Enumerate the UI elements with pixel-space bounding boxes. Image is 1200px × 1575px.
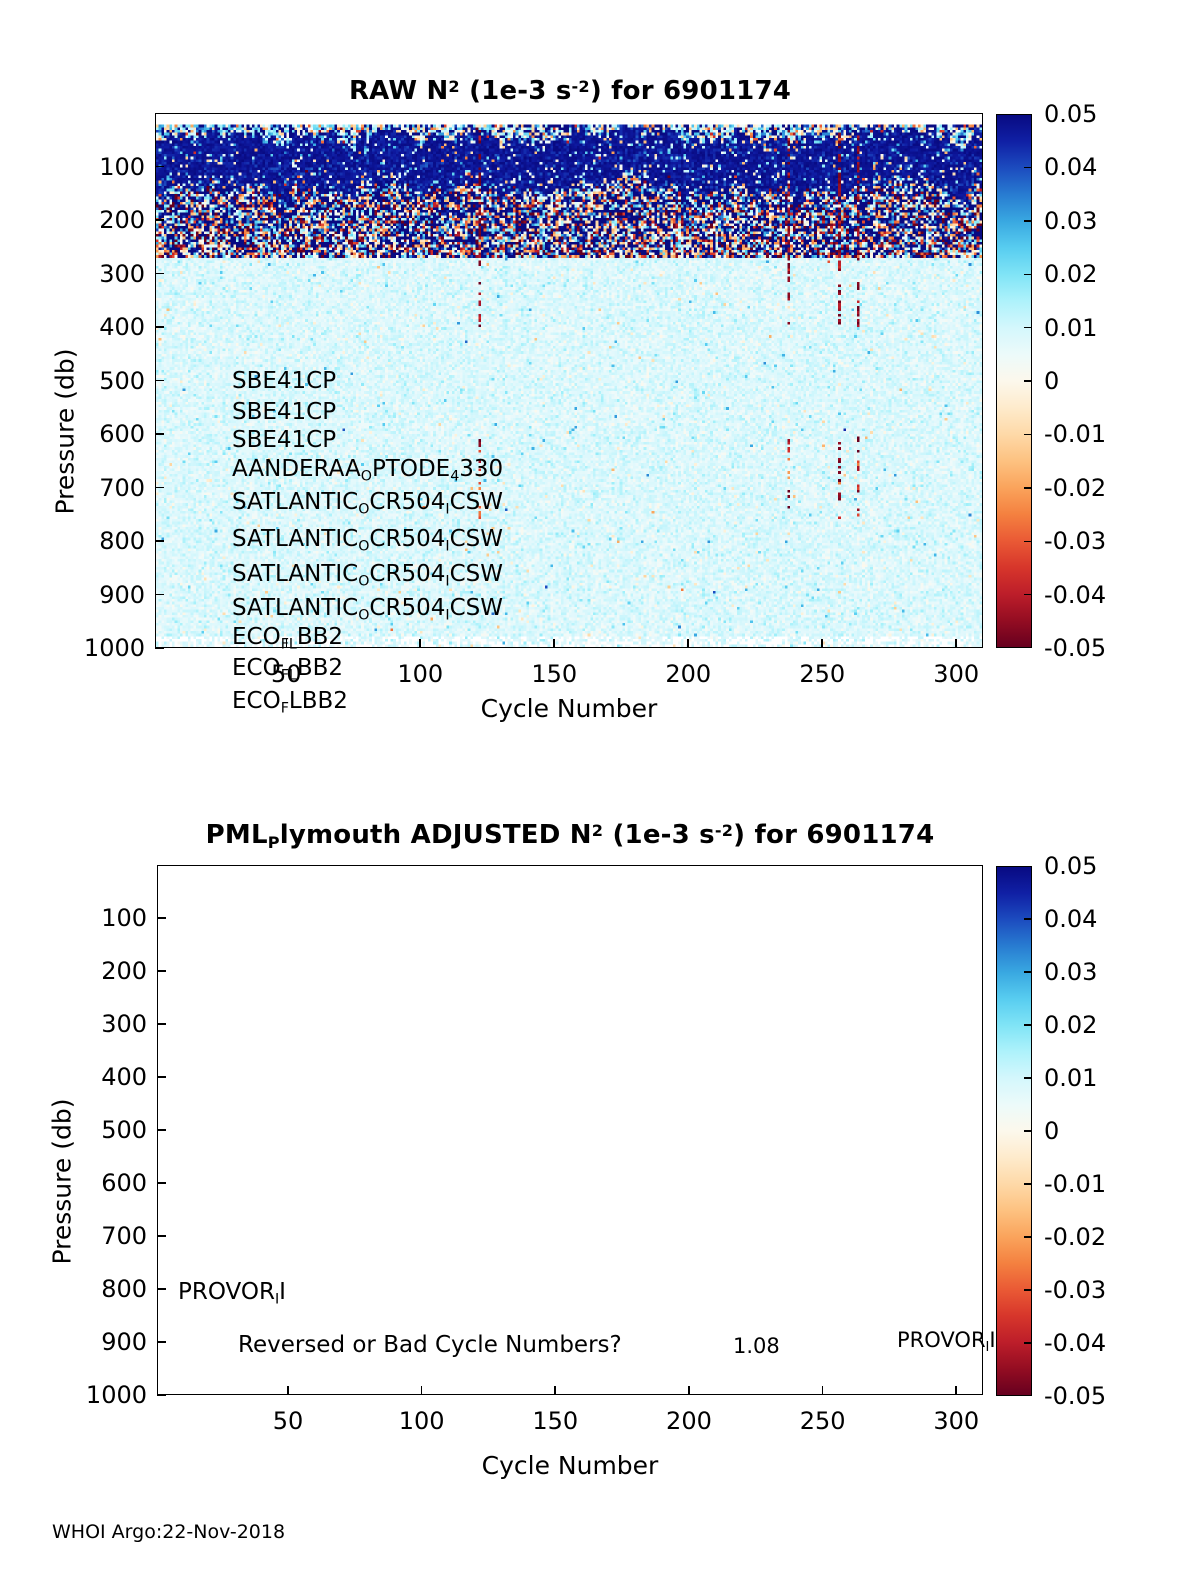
- xtick-label: 100: [375, 660, 465, 688]
- annot-tail: PTODE: [372, 456, 450, 482]
- annot-tail2: 330: [459, 456, 503, 482]
- colorbar-tick-label: 0.05: [1044, 100, 1097, 128]
- colorbar-tick-label: -0.04: [1044, 1329, 1106, 1357]
- colorbar-tick-mark: [1024, 1183, 1032, 1185]
- ytick-label: 900: [50, 581, 145, 609]
- colorbar-tick-mark: [1024, 274, 1032, 276]
- ytick-label: 100: [50, 153, 145, 181]
- adjusted-annotation: PROVORII: [897, 1330, 996, 1354]
- raw-plot-title: RAW N2 (1e-3 s-2) for 6901174: [155, 76, 985, 106]
- sensor-annotation: SATLANTICOCR504ICSW: [232, 597, 503, 623]
- ytick-label: 100: [52, 904, 147, 932]
- annot-tail2: CSW: [450, 489, 503, 515]
- annot-sub: O: [361, 469, 372, 485]
- ytick-mark: [157, 1182, 166, 1184]
- annot-text: PROVOR: [897, 1328, 986, 1352]
- colorbar-tick-mark: [1024, 971, 1032, 973]
- xtick-label: 250: [777, 660, 867, 688]
- adj-title-prefix: PML: [206, 820, 268, 850]
- ytick-mark: [157, 1394, 166, 1396]
- ytick-mark: [157, 1288, 166, 1290]
- adjusted-axes[interactable]: [157, 865, 983, 1395]
- sensor-annotation: SATLANTICOCR504ICSW: [232, 528, 503, 554]
- xtick-mark: [955, 1386, 957, 1395]
- panel-raw: RAW N2 (1e-3 s-2) for 6901174 Pressure (…: [0, 0, 1200, 790]
- colorbar-tick-label: 0.03: [1044, 207, 1097, 235]
- adj-title-sub: P: [268, 833, 280, 852]
- colorbar-tick-label: 0.04: [1044, 905, 1097, 933]
- ytick-label: 1000: [50, 634, 145, 662]
- colorbar-tick-mark: [1024, 434, 1032, 436]
- annot-tail: BB2: [297, 624, 343, 650]
- annot-text: SATLANTIC: [232, 595, 358, 621]
- annot-tail: I: [279, 1279, 286, 1305]
- panel-adjusted: PMLPlymouth ADJUSTED N2 (1e-3 s-2) for 6…: [0, 790, 1200, 1550]
- ytick-label: 700: [52, 1222, 147, 1250]
- ytick-label: 400: [52, 1063, 147, 1091]
- ytick-label: 500: [50, 367, 145, 395]
- xtick-label: 250: [778, 1407, 868, 1435]
- annot-tail: LBB2: [289, 688, 348, 714]
- xtick-label: 200: [644, 1407, 734, 1435]
- colorbar-tick-label: -0.03: [1044, 1276, 1106, 1304]
- colorbar-tick-label: 0: [1044, 1117, 1059, 1145]
- ytick-label: 1000: [52, 1381, 147, 1409]
- sensor-annotation: SBE41CP: [232, 370, 336, 393]
- colorbar-tick-mark: [1024, 1024, 1032, 1026]
- raw-title-mid: (1e-3 s: [460, 76, 572, 106]
- colorbar-tick-label: -0.03: [1044, 527, 1106, 555]
- xtick-label: 150: [509, 660, 599, 688]
- annot-sub: O: [358, 608, 369, 624]
- colorbar-tick-label: -0.02: [1044, 1223, 1106, 1251]
- ytick-mark: [155, 326, 164, 328]
- raw-title-sup2: -2: [572, 77, 590, 96]
- sensor-annotation: ECOFLBB2: [232, 626, 343, 652]
- sensor-annotation: AANDERAAOPTODE4330: [232, 458, 503, 484]
- ytick-label: 200: [52, 957, 147, 985]
- colorbar-tick-label: 0.04: [1044, 153, 1097, 181]
- annot-text: AANDERAA: [232, 456, 361, 482]
- annot-sub2: 4: [450, 469, 459, 485]
- annot-text: ECO: [232, 688, 281, 714]
- ytick-mark: [155, 380, 164, 382]
- annot-tail: I: [989, 1328, 995, 1352]
- ytick-mark: [157, 1129, 166, 1131]
- xtick-mark: [821, 639, 823, 648]
- colorbar-tick-mark: [1024, 1289, 1032, 1291]
- ytick-label: 400: [50, 313, 145, 341]
- colorbar-tick-mark: [1024, 1077, 1032, 1079]
- raw-title-suffix: ) for 6901174: [590, 76, 791, 106]
- ytick-mark: [157, 1076, 166, 1078]
- figure-footer: WHOI Argo:22-Nov-2018: [52, 1521, 285, 1543]
- colorbar-tick-label: 0.01: [1044, 314, 1097, 342]
- annot-tail: CR504: [369, 561, 445, 587]
- xtick-mark: [553, 639, 555, 648]
- adjusted-xlabel: Cycle Number: [157, 1451, 983, 1480]
- ytick-mark: [155, 219, 164, 221]
- colorbar-tick-label: -0.04: [1044, 581, 1106, 609]
- annot-text: SBE41CP: [232, 427, 336, 453]
- colorbar-tick-mark: [1024, 167, 1032, 169]
- xtick-mark: [421, 1386, 423, 1395]
- ytick-mark: [155, 487, 164, 489]
- xtick-label: 50: [243, 1407, 333, 1435]
- annot-text: PROVOR: [178, 1279, 275, 1305]
- annot-text: 1.08: [733, 1334, 780, 1358]
- ytick-label: 300: [50, 260, 145, 288]
- ytick-mark: [155, 540, 164, 542]
- sensor-annotation: SATLANTICOCR504ICSW: [232, 563, 503, 589]
- annot-tail2: CSW: [450, 526, 503, 552]
- annot-sub: O: [358, 502, 369, 518]
- sensor-annotation: ECOFLBB2: [232, 690, 348, 716]
- colorbar-tick-mark: [1024, 327, 1032, 329]
- annot-sub: O: [358, 574, 369, 590]
- annot-sub: O: [358, 539, 369, 555]
- colorbar-tick-mark: [1024, 1236, 1032, 1238]
- adjusted-plot-title: PMLPlymouth ADJUSTED N2 (1e-3 s-2) for 6…: [155, 820, 985, 852]
- adjusted-annotation: 1.08: [733, 1336, 780, 1357]
- annot-sub: FL: [281, 637, 297, 653]
- colorbar-tick-label: -0.05: [1044, 634, 1106, 662]
- ytick-label: 200: [50, 206, 145, 234]
- colorbar-tick-label: -0.02: [1044, 474, 1106, 502]
- annot-tail2: CSW: [450, 561, 503, 587]
- annot-tail: CR504: [369, 526, 445, 552]
- xtick-mark: [419, 639, 421, 648]
- colorbar-tick-mark: [1024, 1342, 1032, 1344]
- annot-text: SATLANTIC: [232, 561, 358, 587]
- ytick-mark: [157, 970, 166, 972]
- colorbar-tick-label: 0: [1044, 367, 1059, 395]
- xtick-mark: [688, 1386, 690, 1395]
- raw-title-prefix: RAW N: [349, 76, 448, 106]
- adjusted-annotation: Reversed or Bad Cycle Numbers?: [238, 1334, 622, 1357]
- annot-sub: F: [281, 701, 289, 717]
- xtick-mark: [822, 1386, 824, 1395]
- annot-tail: BB2: [297, 655, 343, 681]
- xtick-label: 100: [377, 1407, 467, 1435]
- annot-text: ECO: [232, 655, 281, 681]
- colorbar-tick-label: 0.01: [1044, 1064, 1097, 1092]
- annot-tail: CR504: [369, 489, 445, 515]
- ytick-mark: [157, 917, 166, 919]
- colorbar-tick-label: 0.02: [1044, 1011, 1097, 1039]
- ytick-label: 800: [52, 1275, 147, 1303]
- sensor-annotation: SBE41CP: [232, 401, 336, 424]
- sensor-annotation: ECOFLBB2: [232, 657, 343, 683]
- annot-sub: FL: [281, 668, 297, 684]
- ytick-mark: [155, 594, 164, 596]
- adjusted-annotation: PROVORII: [178, 1281, 286, 1307]
- colorbar-tick-label: 0.03: [1044, 958, 1097, 986]
- colorbar-tick-mark: [1024, 487, 1032, 489]
- colorbar-tick-mark: [1024, 541, 1032, 543]
- annot-tail: CR504: [369, 595, 445, 621]
- annot-text: ECO: [232, 624, 281, 650]
- colorbar-tick-mark: [1024, 918, 1032, 920]
- adj-title-mid0: lymouth ADJUSTED N: [280, 820, 592, 850]
- sensor-annotation: SATLANTICOCR504ICSW: [232, 491, 503, 517]
- ytick-mark: [155, 647, 164, 649]
- colorbar-tick-mark: [1024, 594, 1032, 596]
- annot-text: Reversed or Bad Cycle Numbers?: [238, 1332, 622, 1358]
- xtick-mark: [955, 639, 957, 648]
- ytick-mark: [155, 166, 164, 168]
- annot-text: SATLANTIC: [232, 489, 358, 515]
- colorbar-tick-label: 0.02: [1044, 260, 1097, 288]
- xtick-label: 300: [911, 1407, 1001, 1435]
- ytick-mark: [157, 1235, 166, 1237]
- xtick-mark: [687, 639, 689, 648]
- ytick-label: 600: [50, 420, 145, 448]
- ytick-label: 600: [52, 1169, 147, 1197]
- adj-title-sup2: -2: [715, 821, 733, 840]
- colorbar-tick-mark: [1024, 220, 1032, 222]
- ytick-mark: [157, 1341, 166, 1343]
- ytick-label: 500: [52, 1116, 147, 1144]
- raw-title-sup: 2: [448, 77, 459, 96]
- ytick-label: 800: [50, 527, 145, 555]
- xtick-mark: [287, 1386, 289, 1395]
- annot-text: SATLANTIC: [232, 526, 358, 552]
- annot-tail2: CSW: [450, 595, 503, 621]
- xtick-label: 300: [911, 660, 1001, 688]
- sensor-annotation: SBE41CP: [232, 429, 336, 452]
- ytick-mark: [157, 1023, 166, 1025]
- ytick-mark: [155, 273, 164, 275]
- ytick-label: 700: [50, 474, 145, 502]
- adj-title-mid: (1e-3 s: [603, 820, 715, 850]
- adj-title-suffix: ) for 6901174: [733, 820, 934, 850]
- xtick-label: 200: [643, 660, 733, 688]
- xtick-mark: [554, 1386, 556, 1395]
- xtick-label: 150: [510, 1407, 600, 1435]
- colorbar-tick-mark: [1024, 380, 1032, 382]
- colorbar-tick-label: -0.01: [1044, 420, 1106, 448]
- ytick-label: 300: [52, 1010, 147, 1038]
- annot-text: SBE41CP: [232, 368, 336, 394]
- colorbar-tick-label: -0.01: [1044, 1170, 1106, 1198]
- ytick-label: 900: [52, 1328, 147, 1356]
- colorbar-tick-label: -0.05: [1044, 1382, 1106, 1410]
- annot-text: SBE41CP: [232, 399, 336, 425]
- colorbar-tick-mark: [1024, 1130, 1032, 1132]
- ytick-mark: [155, 433, 164, 435]
- adj-title-sup: 2: [592, 821, 603, 840]
- colorbar-tick-label: 0.05: [1044, 852, 1097, 880]
